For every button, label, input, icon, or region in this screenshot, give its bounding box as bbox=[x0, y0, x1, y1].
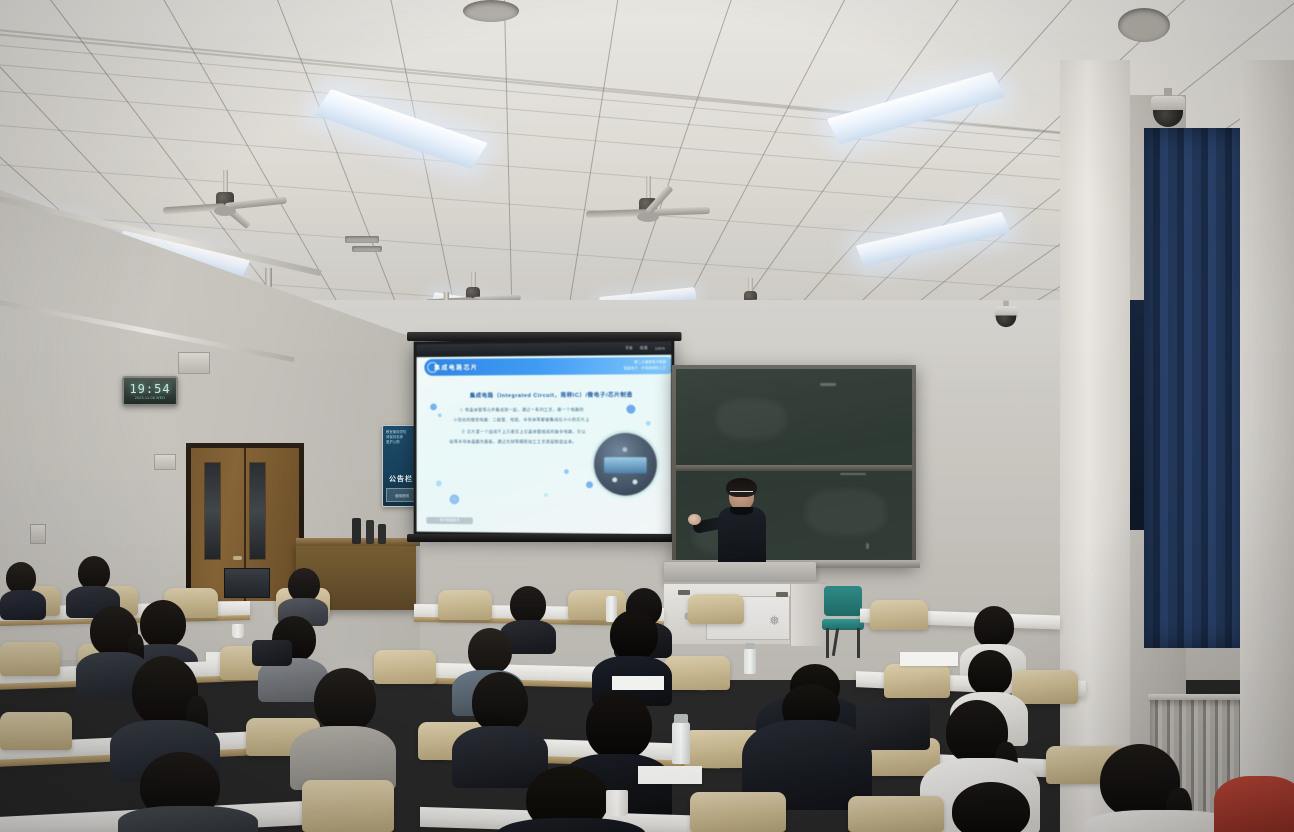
decorative-dot-icon bbox=[436, 480, 442, 486]
toolbar-menu-font[interactable]: 字体 bbox=[625, 346, 633, 351]
clock-date: 2023-11-08 WED bbox=[135, 396, 165, 400]
bottle-cap bbox=[674, 714, 688, 723]
slide-bullet: ① 将晶体管等元件集成到一起，通过一系列工艺，做一个电路的 bbox=[459, 407, 584, 413]
notice-line-3: 爱护公物 bbox=[386, 440, 416, 445]
window-curtain[interactable] bbox=[1144, 128, 1244, 648]
notebook-paper bbox=[900, 652, 958, 666]
chair[interactable] bbox=[438, 590, 492, 620]
student bbox=[278, 568, 328, 622]
student bbox=[290, 668, 396, 786]
student bbox=[742, 684, 872, 808]
slide-header-right-line-2: 智能电子 · 半导体材料工艺 bbox=[624, 365, 666, 371]
ceiling-fan[interactable] bbox=[160, 170, 290, 220]
classroom-photo-scene: 19:54 2023-11-08 WED 教室使用须知 请保持安静 爱护公物 公… bbox=[0, 0, 1294, 832]
slide-footer-label: 电子制造技术 bbox=[426, 517, 473, 524]
ceiling-vent-icon bbox=[1118, 8, 1170, 42]
chair[interactable] bbox=[664, 656, 730, 690]
student bbox=[0, 562, 46, 614]
chair[interactable] bbox=[884, 664, 950, 698]
cabinet-vent-slot bbox=[678, 590, 690, 595]
powerpoint-toolbar[interactable]: 字体 段落 100% bbox=[417, 342, 672, 358]
chair[interactable] bbox=[0, 712, 72, 750]
backpack bbox=[252, 640, 292, 666]
slide-bullet: 小型化的微型电路：二极管、电阻、半导体等都被集成在小小的芯片上 bbox=[453, 417, 589, 423]
ceiling-vent-icon bbox=[463, 0, 519, 22]
slide-title: 集成电路芯片 bbox=[434, 363, 478, 372]
toolbar-menu-paragraph[interactable]: 段落 bbox=[640, 346, 648, 351]
student bbox=[926, 782, 1066, 832]
wall-outlet[interactable] bbox=[30, 524, 46, 544]
paper-cup bbox=[232, 624, 244, 638]
backpack bbox=[856, 702, 930, 750]
glasses-icon bbox=[730, 491, 753, 496]
marker-holder-icon bbox=[352, 518, 361, 544]
chalkboard-panel-divider bbox=[676, 465, 912, 471]
water-bottle bbox=[672, 722, 690, 764]
slide-heading: 集成电路（Integrated Circuit，简称IC）/微电子/芯片制造 bbox=[459, 390, 643, 399]
decorative-dot-icon bbox=[430, 403, 437, 410]
student bbox=[118, 752, 258, 832]
decorative-dot-icon bbox=[438, 413, 442, 417]
screen-bottom-bar bbox=[407, 534, 682, 542]
slide-bullet: ② 芯片是一个由成千上万甚至上亿晶体管组成的复杂电路，它以 bbox=[461, 429, 586, 435]
ceiling-speaker-icon bbox=[345, 236, 379, 243]
water-bottle bbox=[744, 648, 756, 674]
cabinet-vent-slot bbox=[776, 592, 788, 597]
wall-switch-plate[interactable] bbox=[154, 454, 176, 470]
decorative-dot-icon bbox=[544, 493, 548, 497]
decorative-dot-icon bbox=[586, 481, 593, 488]
slide-bullet: 硅等半导体晶圆为基板，通过光刻等精密加工工艺逐层制造出来。 bbox=[450, 439, 577, 445]
digital-wall-clock: 19:54 2023-11-08 WED bbox=[122, 376, 178, 406]
decorative-dot-icon bbox=[646, 421, 651, 426]
decorative-dot-icon bbox=[450, 494, 460, 504]
wall-junction-box bbox=[178, 352, 210, 374]
notebook-paper bbox=[612, 676, 664, 690]
marker-holder-icon bbox=[378, 524, 386, 544]
paper-cup bbox=[606, 790, 628, 816]
clock-time: 19:54 bbox=[129, 383, 170, 396]
flower-vent-icon: ❅ bbox=[768, 614, 781, 627]
chair[interactable] bbox=[302, 780, 394, 832]
folding-chair[interactable] bbox=[822, 586, 864, 658]
toolbar-zoom-indicator[interactable]: 100% bbox=[655, 346, 665, 350]
instructor-hand bbox=[688, 514, 701, 525]
projection-screen: 字体 段落 100% 集成电路芯片 第三大课堂电子制造 智能电子 · 半导体材料… bbox=[414, 338, 675, 537]
presentation-slide: 字体 段落 100% 集成电路芯片 第三大课堂电子制造 智能电子 · 半导体材料… bbox=[417, 342, 672, 535]
slide-photo-chip bbox=[594, 433, 657, 496]
laptop-screen bbox=[224, 568, 270, 598]
notebook-paper bbox=[638, 766, 702, 784]
ceiling-speaker-icon bbox=[352, 246, 382, 252]
lectern bbox=[664, 562, 816, 584]
instructor bbox=[700, 478, 786, 574]
decorative-circle-icon bbox=[427, 362, 438, 373]
chair[interactable] bbox=[688, 594, 744, 624]
decorative-dot-icon bbox=[626, 405, 635, 414]
ceiling-fan[interactable] bbox=[578, 176, 718, 228]
bottle-cap bbox=[745, 643, 755, 649]
marker-holder-icon bbox=[366, 520, 374, 544]
cabinet-side-panel bbox=[790, 584, 826, 646]
decorative-dot-icon bbox=[564, 469, 569, 474]
wall-pillar bbox=[1060, 60, 1130, 832]
slide-content-area: 集成电路（Integrated Circuit，简称IC）/微电子/芯片制造 ①… bbox=[417, 376, 672, 534]
chair[interactable] bbox=[690, 792, 786, 832]
right-wall-edge bbox=[1240, 60, 1294, 832]
student bbox=[1214, 756, 1294, 832]
chair[interactable] bbox=[870, 600, 928, 630]
slide-title-bar: 集成电路芯片 第三大课堂电子制造 智能电子 · 半导体材料工艺 bbox=[424, 357, 671, 376]
chair[interactable] bbox=[0, 642, 60, 676]
